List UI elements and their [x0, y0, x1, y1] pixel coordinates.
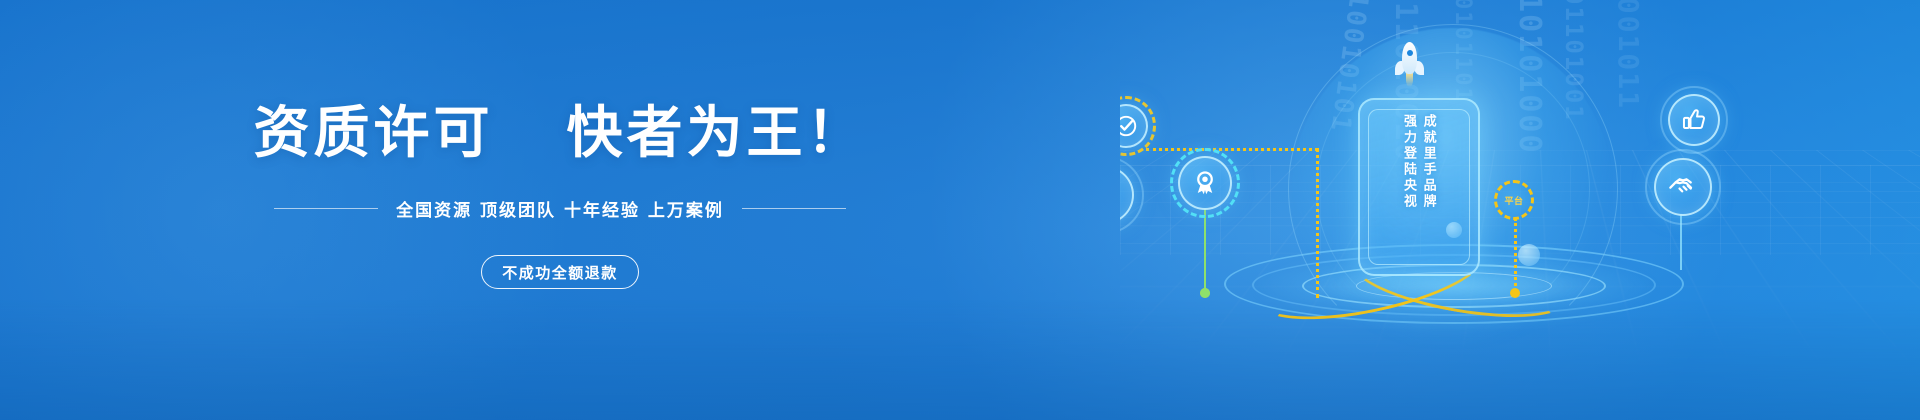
- connector-node-green: [1200, 288, 1210, 298]
- connector-node-yellow: [1510, 288, 1520, 298]
- headline: 资质许可 快者为王！: [0, 103, 1120, 165]
- connector-line-yellow-right: [1514, 218, 1517, 292]
- headline-part-2: 快者为王！: [567, 101, 867, 166]
- handshake-badge[interactable]: [1654, 158, 1712, 216]
- connector-line-yellow-top: [1146, 148, 1318, 151]
- headline-part-1: 资质许可: [254, 101, 494, 166]
- thumbs-up-icon: [1680, 106, 1708, 134]
- device-screen: 成就里手品牌 强力登陆央视: [1358, 98, 1480, 276]
- connector-line-green: [1204, 208, 1206, 292]
- thumbs-up-badge[interactable]: [1668, 94, 1720, 146]
- subtitle-row: 全国资源 顶级团队 十年经验 上万案例: [0, 196, 1120, 221]
- binary-text: 1001011: [1612, 0, 1645, 110]
- device-slogan: 成就里手品牌 强力登陆央视: [1360, 114, 1478, 264]
- check-circle-icon: [1120, 113, 1139, 139]
- connector-line-yellow-left: [1316, 148, 1319, 298]
- banner-copy: 资质许可 快者为王！ 全国资源 顶级团队 十年经验 上万案例 不成功全额退款: [0, 0, 1120, 420]
- monitor-chart-icon: [1120, 179, 1121, 211]
- platform-token: 平台: [1494, 180, 1534, 220]
- refund-guarantee-button[interactable]: 不成功全额退款: [481, 255, 639, 289]
- device-slogan-line-1: 成就里手品牌: [1422, 114, 1436, 264]
- device-slogan-line-2: 强力登陆央视: [1402, 114, 1416, 264]
- subtitle: 全国资源 顶级团队 十年经验 上万案例: [396, 196, 724, 221]
- promo-banner: 10010101 011010010 0101101 110101000 011…: [0, 0, 1920, 420]
- platform-token-label: 平台: [1504, 194, 1523, 207]
- subtitle-rule-right: [742, 208, 846, 209]
- decorative-sphere: [1518, 244, 1540, 266]
- subtitle-rule-left: [274, 208, 378, 209]
- award-ribbon-icon: [1190, 168, 1220, 198]
- award-badge[interactable]: [1178, 156, 1232, 210]
- rocket-icon: [1392, 42, 1426, 88]
- cta-row: 不成功全额退款: [0, 255, 1120, 289]
- handshake-icon: [1667, 171, 1699, 203]
